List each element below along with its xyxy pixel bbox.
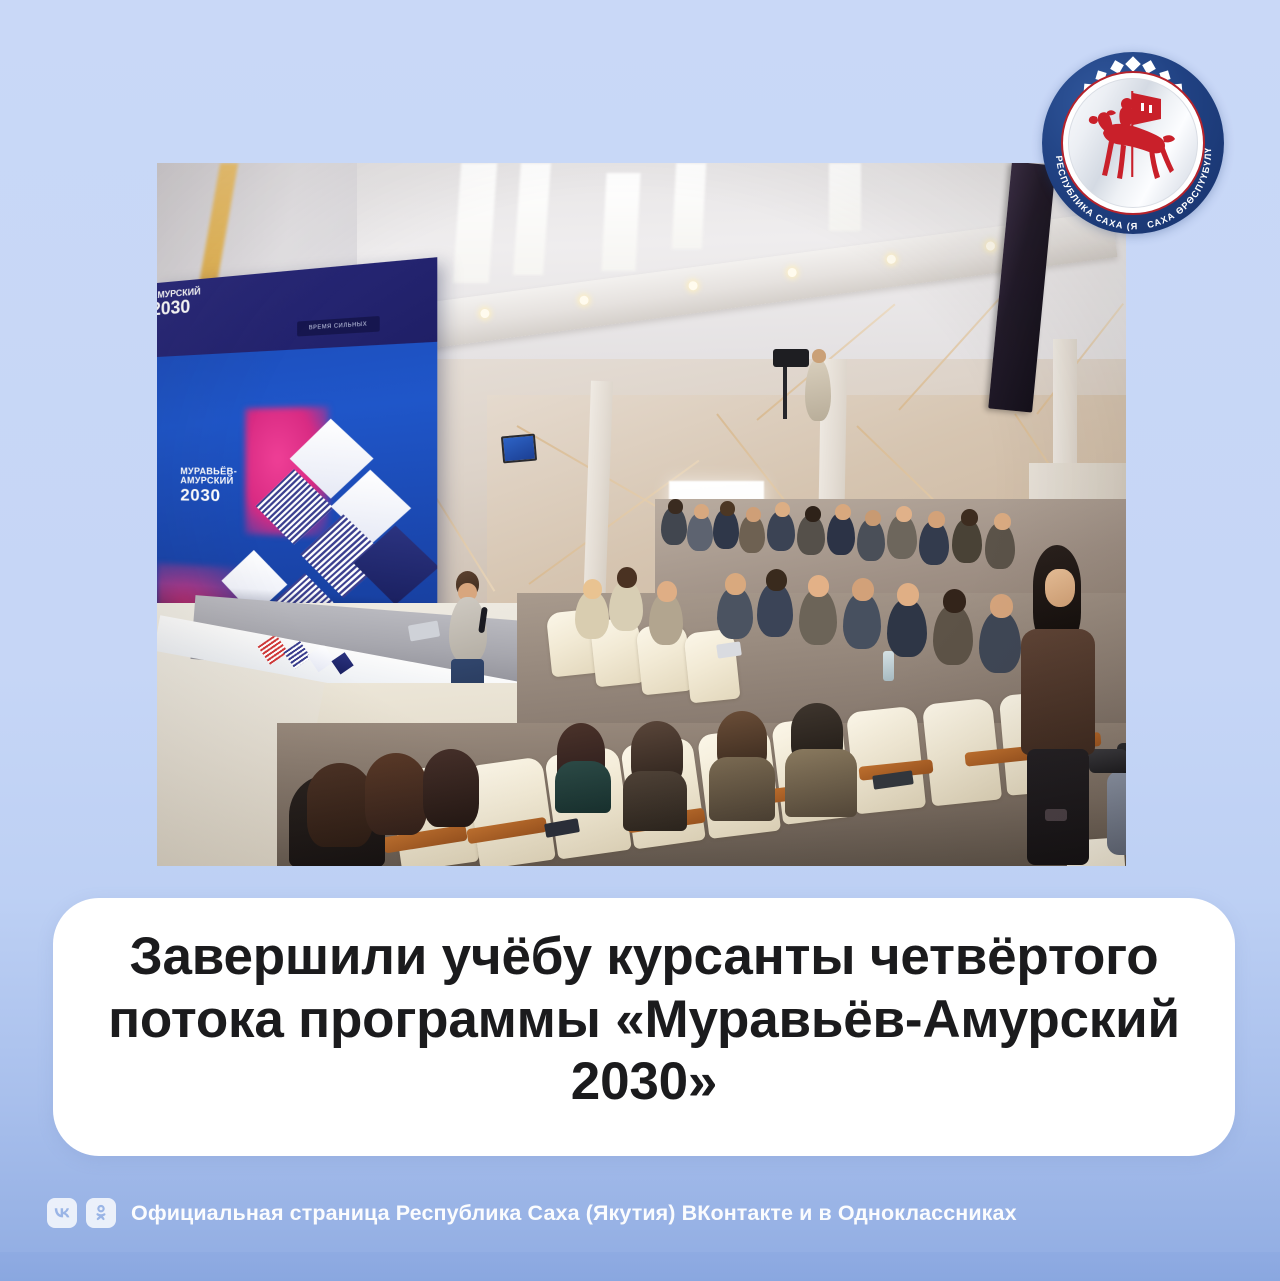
- attendee-teal-top: [555, 761, 611, 813]
- attendee-long-hair: [365, 753, 427, 835]
- footer-bar: Официальная страница Республика Саха (Як…: [47, 1198, 1017, 1228]
- photographer-jeans: [1107, 771, 1126, 855]
- emblem-center-field: [1068, 78, 1198, 208]
- event-photo: АМУРСКИЙ 2030 ВРЕМЯ СИЛЬНЫХ МУРАВЬЁВ- АМ…: [157, 163, 1126, 866]
- standing-attendee-skirt: [1027, 749, 1089, 865]
- coat-of-arms-emblem: РЕСПУБЛИКА САХА (ЯКУТИЯ) САХА ӨРӨСПҮҮБҮЛ…: [1042, 52, 1224, 234]
- video-camera: [773, 349, 809, 367]
- attendee-olive-top: [709, 757, 775, 821]
- attendee-long-hair: [307, 763, 373, 847]
- camera-tripod: [783, 367, 787, 419]
- attendee-tan-jacket: [785, 749, 857, 817]
- bottom-edge-fade: [0, 1252, 1280, 1281]
- standing-attendee: [1019, 545, 1099, 865]
- standing-attendee-face: [1045, 569, 1075, 607]
- ceiling-window: [829, 163, 861, 231]
- ceiling-window: [601, 173, 640, 271]
- attendee-brown-top: [623, 771, 687, 831]
- attendee-long-hair: [423, 749, 479, 827]
- ceiling-window: [672, 163, 707, 249]
- standing-attendee-phone: [1045, 809, 1067, 821]
- headline-card: Завершили учёбу курсанты четвёртого пото…: [53, 898, 1235, 1156]
- standing-attendee-sweater: [1021, 629, 1095, 755]
- odnoklassniki-icon[interactable]: [86, 1198, 116, 1228]
- wall-monitor-small: [501, 434, 537, 464]
- water-bottle: [883, 651, 894, 681]
- footer-text: Официальная страница Республика Саха (Як…: [131, 1201, 1017, 1226]
- emblem-horseman-figure: [1069, 79, 1199, 209]
- social-media-poster: АМУРСКИЙ 2030 ВРЕМЯ СИЛЬНЫХ МУРАВЬЁВ- АМ…: [0, 0, 1280, 1281]
- emblem-inner-ring: [1061, 71, 1205, 215]
- page-title: Завершили учёбу курсанты четвёртого пото…: [71, 926, 1217, 1114]
- vk-icon[interactable]: [47, 1198, 77, 1228]
